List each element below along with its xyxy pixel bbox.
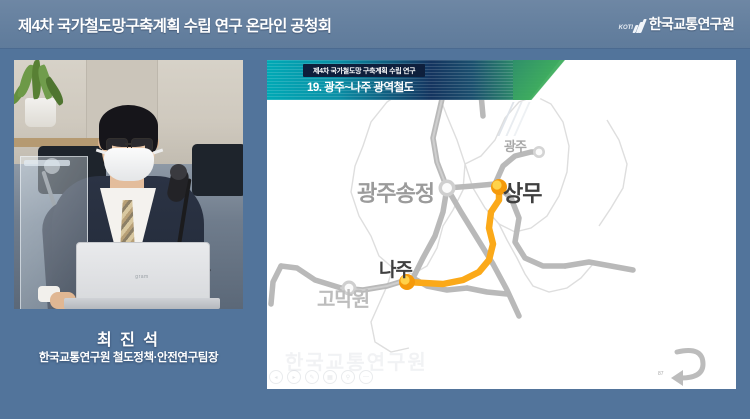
menu-icon[interactable]: —	[359, 370, 373, 384]
slides-icon[interactable]: ▦	[323, 370, 337, 384]
decorative-arrow-head	[671, 370, 683, 386]
app-header: 제4차 국가철도망구축계획 수립 연구 온라인 공청회 KOTI 한국교통연구원	[0, 0, 750, 49]
play-icon[interactable]: ▸	[287, 370, 301, 384]
logo-abbreviation: KOTI	[619, 25, 633, 31]
organization-logo: KOTI 한국교통연구원	[619, 14, 734, 34]
slide-page-number: 87	[658, 371, 664, 377]
speaker-name: 최 진 석	[14, 326, 243, 350]
face-mask	[104, 148, 154, 181]
banner-title-text: 19. 광주~나주 광역철도	[307, 79, 414, 95]
banner-subtitle-chip: 제4차 국가철도망 구축계획 수립 연구	[303, 64, 425, 77]
map-label-gwangju: 광주	[504, 136, 526, 155]
laptop-screen	[76, 242, 210, 302]
map-label-gwangjusongjeong: 광주송정	[357, 176, 434, 208]
presentation-slide: 광주송정 상무 광주 나주 고막원 한국교통연구원 87 제4차 국가철도망 구…	[267, 60, 736, 389]
speaker-affiliation: 한국교통연구원 철도정책·안전연구팀장	[0, 349, 257, 365]
eyeglasses-bridge	[125, 143, 132, 145]
map-label-sangmu: 상무	[503, 176, 541, 208]
acrylic-partition-base	[24, 160, 70, 166]
plant-pot	[25, 98, 56, 127]
pen-icon[interactable]: ✎	[305, 370, 319, 384]
map-label-naju: 나주	[379, 255, 412, 282]
koti-logo-mark: KOTI	[619, 16, 644, 33]
page-title: 제4차 국가철도망구축계획 수립 연구 온라인 공청회	[18, 14, 331, 36]
banner-slash-decoration	[495, 102, 551, 136]
video-scene: gram	[14, 60, 243, 309]
banner-slash-icon	[513, 102, 530, 136]
laptop-brand-label: gram	[76, 274, 208, 280]
chair	[192, 144, 243, 196]
microphone-windscreen	[170, 164, 187, 180]
speaker-video-feed: gram	[14, 60, 243, 309]
organization-name: 한국교통연구원	[649, 14, 734, 34]
station-marker-gwangju	[533, 146, 545, 158]
station-marker-gwangjusongjeong	[439, 180, 456, 197]
zoom-icon[interactable]: ⚲	[341, 370, 355, 384]
banner-subtitle-text: 제4차 국가철도망 구축계획 수립 연구	[313, 66, 415, 76]
previous-icon[interactable]: ◂	[269, 370, 283, 384]
laptop-base	[64, 298, 220, 309]
map-label-gomakwon: 고막원	[317, 283, 369, 312]
presentation-toolbar[interactable]: ◂ ▸ ✎ ▦ ⚲ —	[267, 370, 379, 384]
